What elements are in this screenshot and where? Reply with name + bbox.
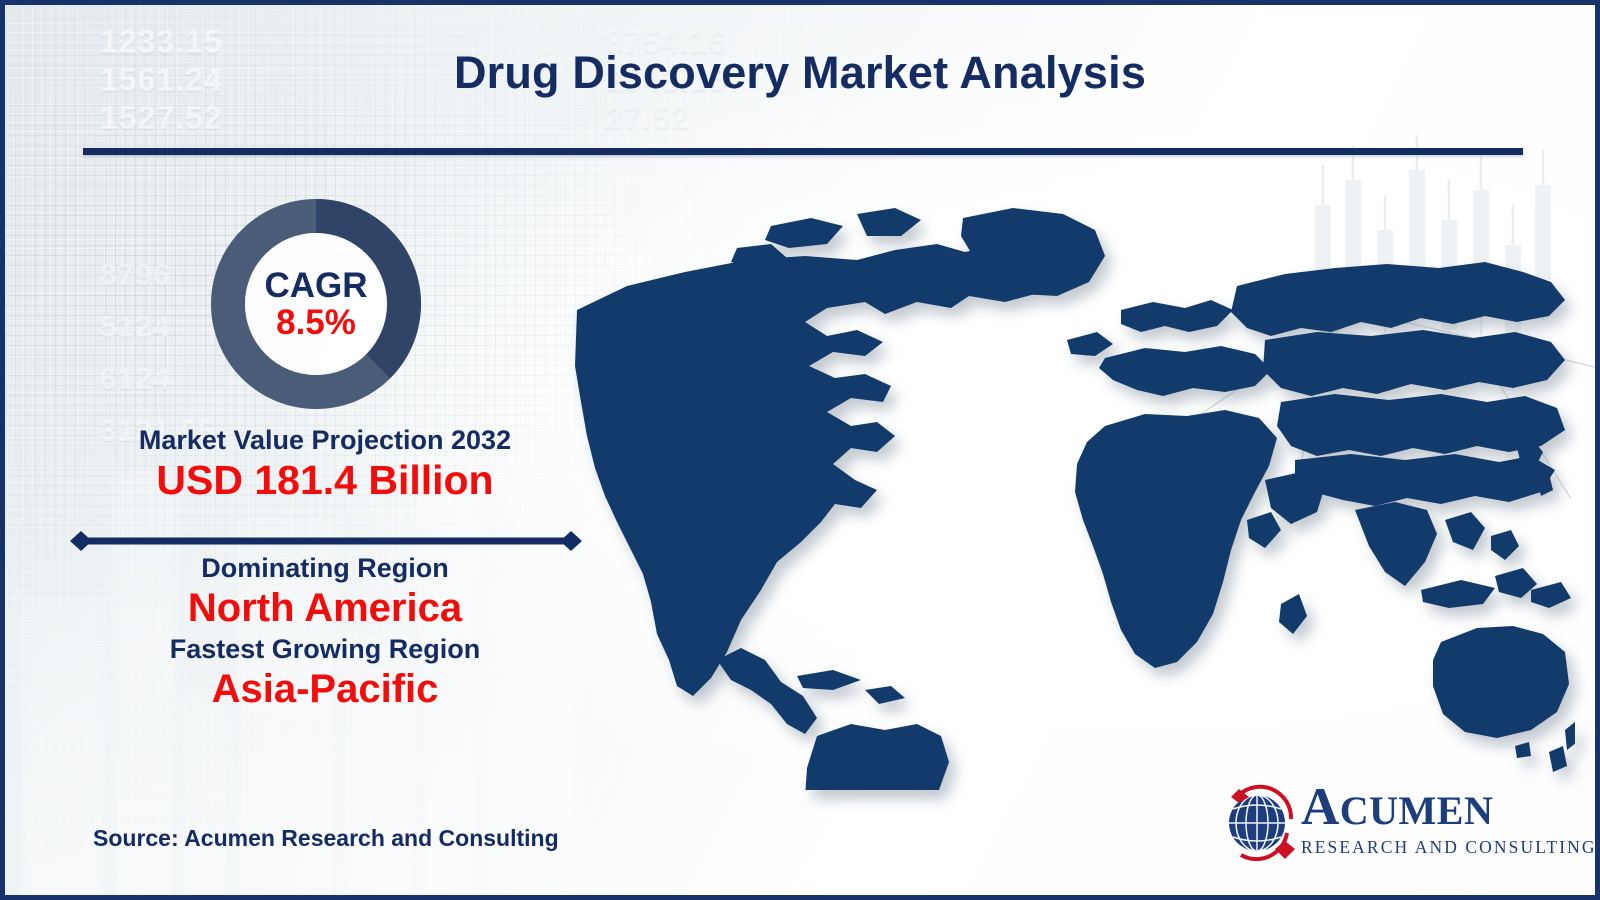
fastest-region-value: Asia-Pacific — [45, 665, 605, 713]
divider-diamond-left — [70, 531, 92, 551]
philippines-shape — [1491, 530, 1519, 560]
logo-diamond — [1275, 841, 1295, 859]
south-america-shape — [805, 724, 949, 790]
acumen-logo[interactable]: ACUMEN RESEARCH AND CONSULTING — [1215, 773, 1560, 873]
central-america-shape — [717, 648, 817, 734]
africa-shape — [1075, 410, 1277, 668]
market-value-caption: Market Value Projection 2032 — [45, 425, 605, 456]
new-zealand-south-shape — [1549, 746, 1567, 772]
arctic-island-1 — [765, 218, 843, 248]
arctic-island-2 — [857, 208, 921, 236]
logo-wordmark: ACUMEN RESEARCH AND CONSULTING — [1301, 781, 1561, 857]
europe-shape — [1099, 346, 1271, 396]
uk-ireland-shape — [1067, 332, 1113, 356]
scandinavia-shape — [1121, 300, 1233, 332]
dominating-region-value: North America — [45, 584, 605, 632]
siberia-shape — [1231, 262, 1565, 336]
title-divider-rule — [83, 148, 1523, 155]
regions-block: Dominating Region North America Fastest … — [45, 553, 605, 713]
madagascar-shape — [1279, 594, 1307, 634]
east-asia-shape — [1295, 454, 1555, 506]
market-value-amount: USD 181.4 Billion — [45, 456, 605, 505]
australia-shape — [1433, 626, 1569, 738]
indochina-shape — [1445, 512, 1485, 550]
central-asia-shape — [1263, 330, 1565, 396]
cagr-donut-chart: CAGR 8.5% — [207, 195, 425, 413]
logo-name-initial: A — [1301, 778, 1340, 836]
logo-tagline: RESEARCH AND CONSULTING — [1301, 839, 1561, 857]
new-zealand-north-shape — [1565, 722, 1575, 750]
cagr-value: 8.5% — [276, 305, 356, 340]
horn-of-africa-shape — [1247, 512, 1281, 548]
donut-center-text: CAGR 8.5% — [207, 195, 425, 413]
infographic-canvas: 1233.15 1561.24 1527.52 8754.16 2543.15 … — [0, 0, 1600, 900]
source-credit: Source: Acumen Research and Consulting — [93, 825, 559, 852]
fastest-region-caption: Fastest Growing Region — [45, 634, 605, 665]
sumatra-java-shape — [1421, 580, 1495, 608]
cagr-label: CAGR — [264, 268, 367, 303]
dominating-region-caption: Dominating Region — [45, 553, 605, 584]
logo-name-rest: CUMEN — [1340, 788, 1494, 833]
india-shape — [1355, 502, 1437, 586]
world-map — [565, 190, 1575, 790]
cuba-shape — [797, 670, 861, 690]
world-map-svg — [565, 190, 1575, 790]
logo-name: ACUMEN — [1301, 781, 1561, 834]
globe-icon — [1215, 779, 1307, 871]
tasmania-shape — [1515, 742, 1531, 758]
page-title: Drug Discovery Market Analysis — [5, 47, 1595, 99]
hispaniola-shape — [865, 686, 905, 704]
borneo-shape — [1495, 568, 1537, 598]
market-value-block: Market Value Projection 2032 USD 181.4 B… — [45, 425, 605, 505]
sulawesi-papua-shape — [1531, 582, 1571, 608]
world-map-landmasses — [575, 208, 1575, 790]
section-divider-arrow — [65, 530, 587, 552]
north-america-shape — [575, 244, 1077, 696]
